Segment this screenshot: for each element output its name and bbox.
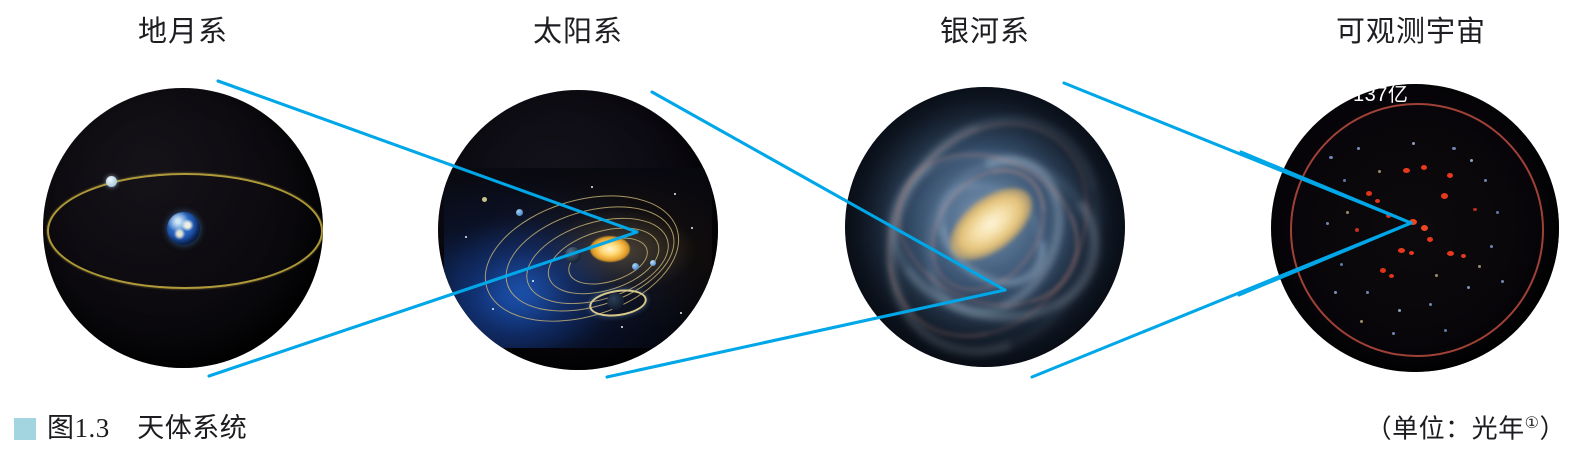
planet-dot: [565, 247, 581, 263]
galaxy-cluster-dot: [1398, 248, 1405, 253]
figure-caption: 图1.3 天体系统: [14, 415, 247, 442]
ringed-planet-icon: [589, 288, 643, 314]
unit-note-text: （单位：光年: [1366, 415, 1525, 444]
solar-system-photo: [444, 168, 712, 348]
galaxy-vignette: [845, 87, 1125, 367]
field-dot: [1496, 211, 1499, 214]
earth-icon: [167, 212, 200, 245]
star-dot: [674, 193, 676, 195]
celestial-systems-figure: 地月系 太阳系 银河系 可观测宇宙: [0, 0, 1588, 476]
star-dot: [691, 227, 693, 229]
field-dot: [1398, 309, 1401, 312]
galaxy-cluster-dot: [1421, 165, 1427, 170]
galaxy-cluster-dot: [1447, 251, 1454, 256]
galaxy-cluster-dot: [1447, 173, 1453, 178]
system-title-universe: 可观测宇宙: [1271, 18, 1551, 47]
system-title-galaxy: 银河系: [845, 18, 1125, 47]
unit-note: （单位：光年①）: [1366, 416, 1566, 443]
field-dot: [1329, 156, 1333, 159]
milky-way-galaxy-circle: [845, 87, 1125, 367]
galaxy-cluster-dot: [1403, 168, 1410, 173]
footnote-mark: ①: [1525, 415, 1540, 432]
system-title-earth-moon: 地月系: [43, 18, 323, 47]
field-dot: [1346, 211, 1349, 214]
galaxy-cluster-dot: [1375, 199, 1380, 203]
planet-dot: [482, 197, 487, 202]
star-dot: [591, 186, 593, 188]
observable-universe-circle: [1271, 84, 1559, 372]
caption-marker-square: [14, 418, 36, 440]
universe-age-label: 137亿: [1353, 78, 1408, 107]
field-dot: [1340, 263, 1343, 266]
galaxy-cluster-dot: [1386, 214, 1391, 218]
earth-moon-system-circle: [43, 88, 323, 368]
field-dot: [1444, 329, 1447, 332]
galaxy-cluster-dot: [1473, 208, 1477, 211]
field-dot: [1412, 142, 1415, 145]
sun-icon: [590, 236, 630, 262]
field-dot: [1467, 286, 1470, 289]
galaxy-cluster-dot: [1421, 225, 1428, 231]
galaxy-cluster-dot: [1366, 191, 1372, 196]
field-dot: [1392, 332, 1395, 335]
galaxy-disc: [845, 87, 1125, 367]
universe-horizon-ring: [1290, 103, 1545, 358]
planet-dot: [632, 263, 639, 270]
field-dot: [1326, 222, 1329, 225]
unit-note-close: ）: [1539, 415, 1566, 444]
field-dot: [1470, 159, 1473, 162]
solar-system-circle: [438, 90, 718, 370]
galaxy-cluster-dot: [1355, 228, 1359, 232]
star-dot: [680, 312, 682, 314]
galaxy-cluster-dot: [1427, 237, 1433, 242]
system-title-solar: 太阳系: [438, 18, 718, 47]
figure-caption-text: 图1.3 天体系统: [47, 415, 247, 442]
galaxy-cluster-dot: [1461, 254, 1466, 258]
